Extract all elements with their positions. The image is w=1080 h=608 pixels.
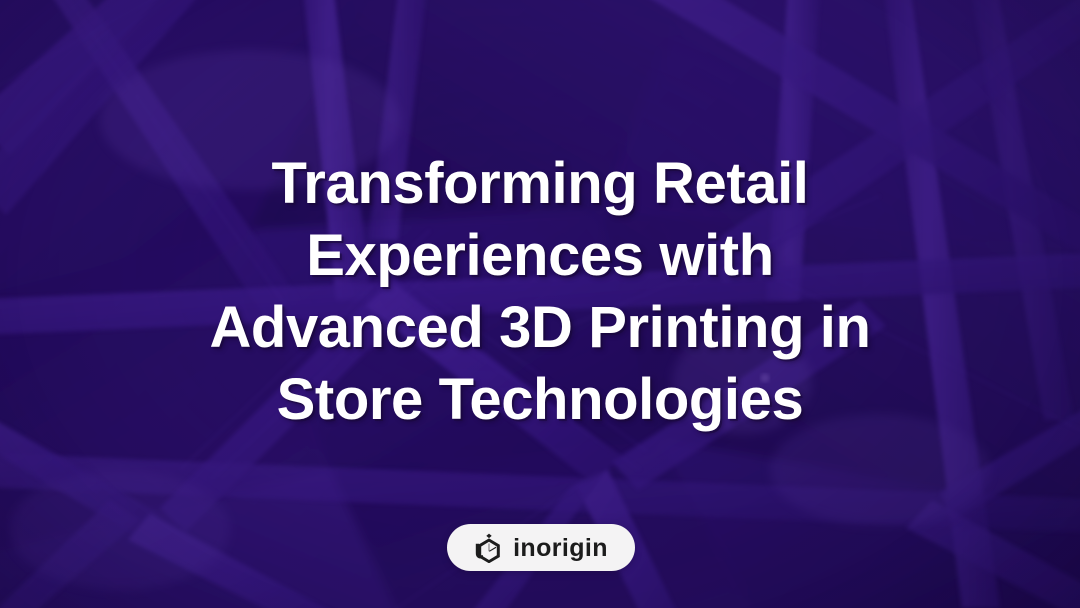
hero-banner: Transforming Retail Experiences with Adv… bbox=[0, 0, 1080, 608]
inorigin-cube-logo-icon bbox=[474, 533, 504, 563]
headline-line-2: Experiences with bbox=[40, 220, 1040, 292]
brand-wordmark: inorigin bbox=[513, 536, 608, 561]
page-title: Transforming Retail Experiences with Adv… bbox=[0, 148, 1080, 436]
headline-line-4: Store Technologies bbox=[40, 364, 1040, 436]
headline-line-3: Advanced 3D Printing in bbox=[40, 292, 1040, 364]
brand-logo-badge[interactable]: inorigin bbox=[447, 524, 635, 571]
headline-line-1: Transforming Retail bbox=[40, 148, 1040, 220]
